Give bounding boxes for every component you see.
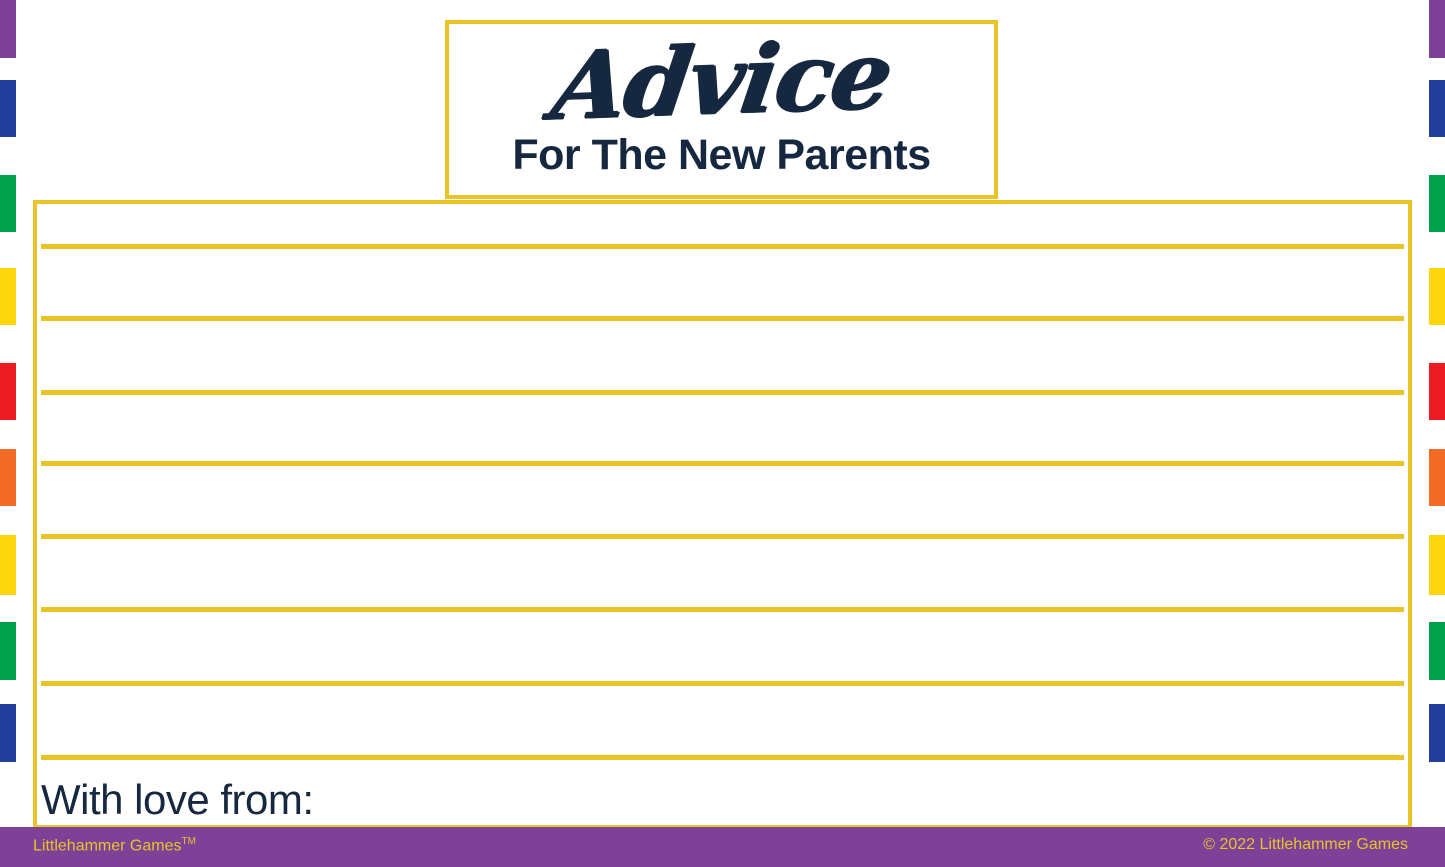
ruled-lines-group (37, 204, 1408, 825)
ruled-line-4 (41, 461, 1404, 466)
footer-brand: Littlehammer GamesTM (33, 836, 196, 855)
footer-bar: Littlehammer GamesTM © 2022 Littlehammer… (0, 827, 1445, 867)
advice-card-page: Advice For The New Parents With love fro… (0, 0, 1445, 867)
signature-label: With love from: (41, 779, 314, 821)
writing-area-card[interactable]: With love from: (33, 200, 1412, 829)
ruled-line-7 (41, 681, 1404, 686)
header-title-plate: Advice For The New Parents (445, 20, 998, 199)
ruled-line-5 (41, 534, 1404, 539)
footer-brand-name: Littlehammer Games (33, 837, 182, 854)
footer-trademark-symbol: TM (182, 836, 196, 847)
ruled-line-1 (41, 244, 1404, 249)
footer-copyright: © 2022 Littlehammer Games (1203, 836, 1408, 854)
page-title-script: Advice (547, 28, 896, 134)
ruled-line-8 (41, 755, 1404, 760)
ruled-line-6 (41, 607, 1404, 612)
ruled-line-3 (41, 390, 1404, 395)
ruled-line-2 (41, 316, 1404, 321)
